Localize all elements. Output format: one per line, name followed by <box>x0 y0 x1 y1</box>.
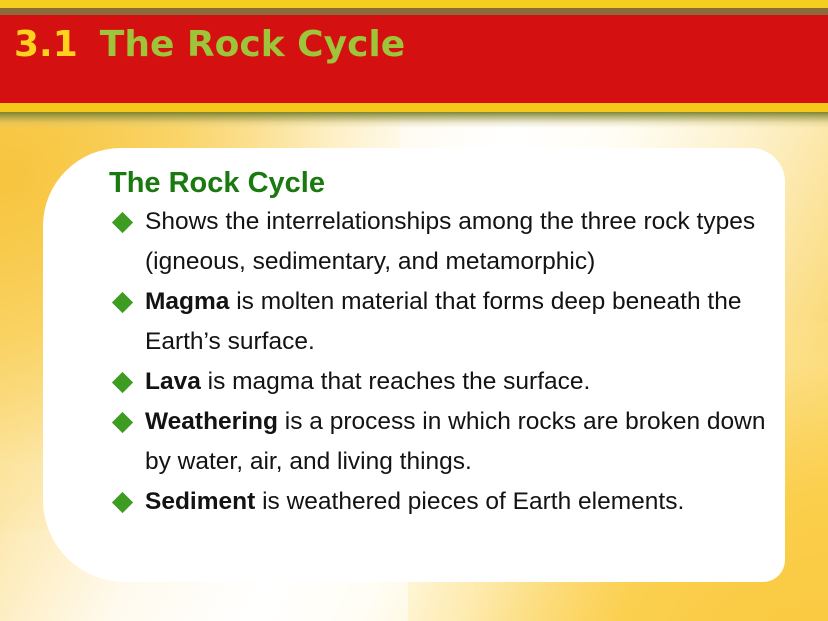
list-item-text: Shows the interrelationships among the t… <box>145 208 755 275</box>
list-item: Weathering is a process in which rocks a… <box>109 402 775 482</box>
section-number: 3.1 <box>14 24 78 65</box>
section-title: The Rock Cycle <box>100 24 405 65</box>
list-item-lead: Lava <box>145 368 201 395</box>
list-item: Sediment is weathered pieces of Earth el… <box>109 482 775 522</box>
header-brown-band <box>0 8 828 15</box>
list-item: Lava is magma that reaches the surface. <box>109 362 775 402</box>
list-item: Magma is molten material that forms deep… <box>109 282 775 362</box>
diamond-bullet-icon <box>112 292 133 313</box>
slide: 3.1 The Rock Cycle The Rock Cycle Shows … <box>0 0 828 621</box>
list-item-text: is magma that reaches the surface. <box>201 368 590 395</box>
content-card: The Rock Cycle Shows the interrelationsh… <box>43 148 785 582</box>
header-gold-bottom-band <box>0 103 828 112</box>
bullet-list: Shows the interrelationships among the t… <box>109 202 775 521</box>
content-heading: The Rock Cycle <box>109 168 775 198</box>
diamond-bullet-icon <box>112 492 133 513</box>
list-item-lead: Sediment <box>145 488 255 515</box>
list-item-lead: Weathering <box>145 408 278 435</box>
header-gold-top-band <box>0 0 828 8</box>
list-item: Shows the interrelationships among the t… <box>109 202 775 282</box>
header-title-group: 3.1 The Rock Cycle <box>14 24 405 65</box>
header-olive-fade-band <box>0 112 828 128</box>
diamond-bullet-icon <box>112 212 133 233</box>
diamond-bullet-icon <box>112 412 133 433</box>
diamond-bullet-icon <box>112 372 133 393</box>
list-item-lead: Magma <box>145 288 229 315</box>
list-item-text: is molten material that forms deep benea… <box>145 288 741 355</box>
slide-header-banner: 3.1 The Rock Cycle <box>0 0 828 113</box>
content-card-inner: The Rock Cycle Shows the interrelationsh… <box>109 168 775 522</box>
list-item-text: is weathered pieces of Earth elements. <box>255 488 684 515</box>
